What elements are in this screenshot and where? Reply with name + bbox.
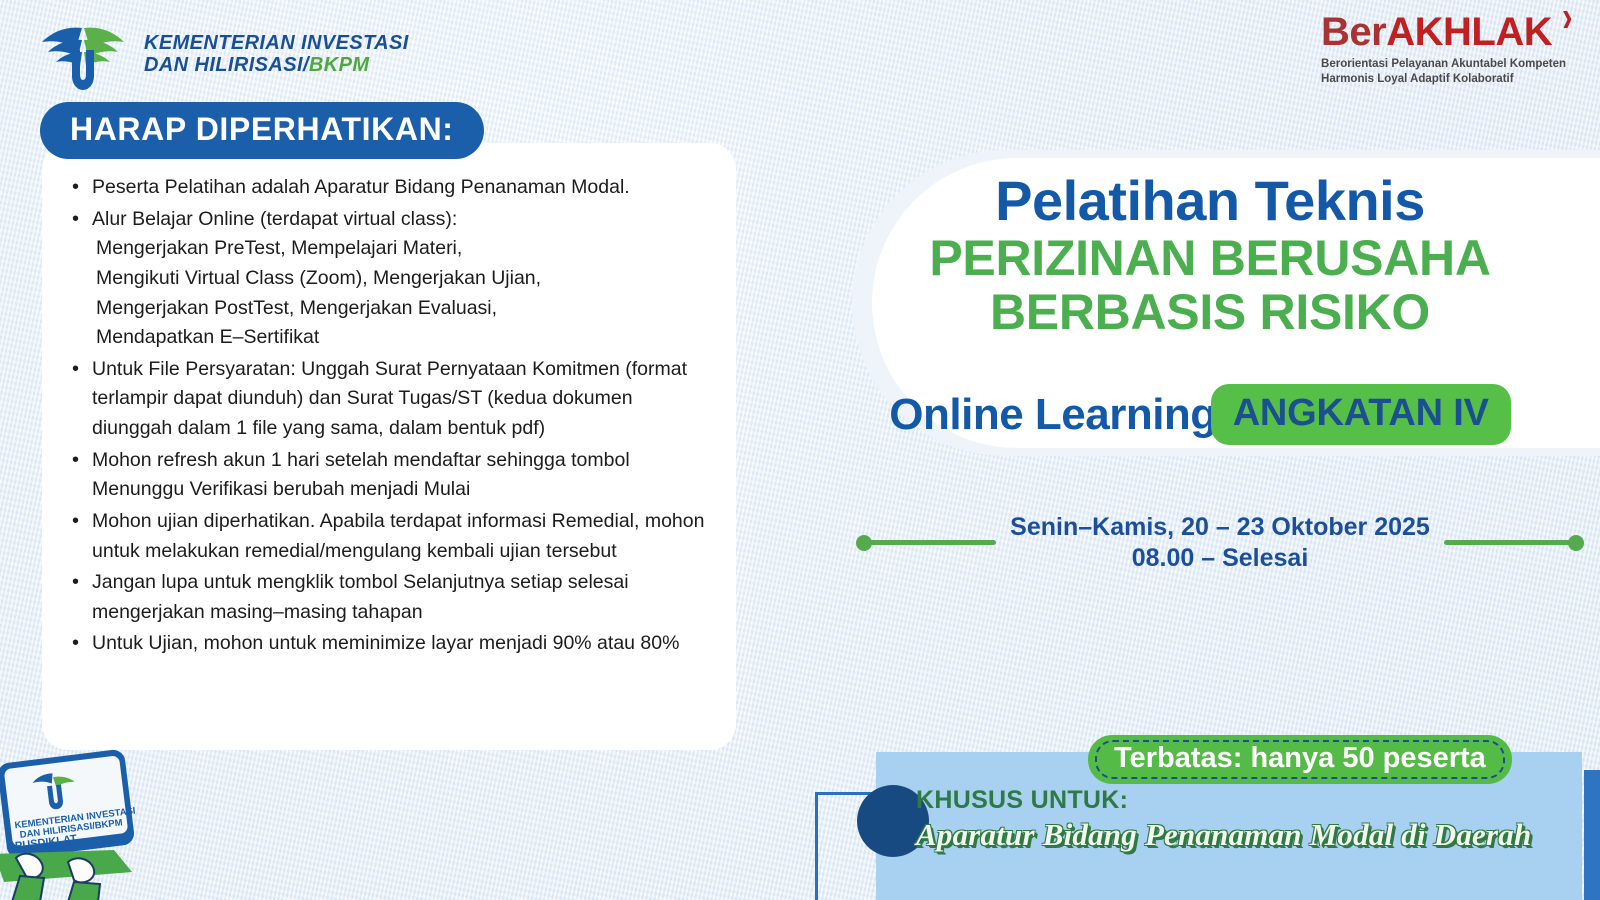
berakhlak-tagline-line2: Harmonis Loyal Adaptif Kolaboratif: [1321, 72, 1566, 87]
note-item: Mohon ujian diperhatikan. Apabila terdap…: [70, 507, 714, 566]
bkpm-acronym: BKPM: [309, 54, 370, 76]
notes-list: Peserta Pelatihan adalah Aparatur Bidang…: [42, 143, 736, 659]
schedule-dates: Senin–Kamis, 20 – 23 Oktober 2025: [1010, 512, 1430, 543]
learning-mode-label: Online Learning: [889, 390, 1216, 440]
note-item: Untuk Ujian, mohon untuk meminimize laya…: [70, 629, 714, 659]
quota-badge: Terbatas: hanya 50 peserta: [1088, 735, 1512, 784]
schedule-time: 08.00 – Selesai: [1010, 543, 1430, 574]
note-item: Peserta Pelatihan adalah Aparatur Bidang…: [70, 173, 714, 203]
schedule-divider-right-icon: [1444, 540, 1580, 545]
schedule-row: Senin–Kamis, 20 – 23 Oktober 2025 08.00 …: [860, 512, 1580, 573]
note-item: Alur Belajar Online (terdapat virtual cl…: [70, 205, 714, 353]
ministry-name-line2: DAN HILIRISASI/BKPM: [144, 54, 409, 76]
note-item: Jangan lupa untuk mengklik tombol Selanj…: [70, 568, 714, 627]
notes-heading-badge: HARAP DIPERHATIKAN:: [40, 102, 484, 159]
bkpm-frond-logo-icon: [38, 16, 130, 92]
hero-mode-row: Online Learning ANGKATAN IV: [820, 384, 1580, 445]
note-item-subline: Mengikuti Virtual Class (Zoom), Mengerja…: [92, 264, 714, 294]
berakhlak-tagline-line1: Berorientasi Pelayanan Akuntabel Kompete…: [1321, 57, 1566, 72]
note-item-text: Mohon ujian diperhatikan. Apabila terdap…: [92, 510, 704, 562]
ministry-logo-text: KEMENTERIAN INVESTASI DAN HILIRISASI/BKP…: [144, 32, 409, 77]
ministry-name-line1: KEMENTERIAN INVESTASI: [144, 32, 409, 54]
hands-typing-on-tablet-icon: KEMENTERIAN INVESTASI DAN HILIRISASI/BKP…: [0, 742, 194, 900]
hero-title-block: Pelatihan Teknis PERIZINAN BERUSAHA BERB…: [860, 172, 1560, 339]
audience-block: KHUSUS UNTUK: Aparatur Bidang Penanaman …: [916, 786, 1531, 853]
note-item-text: Untuk File Persyaratan: Unggah Surat Per…: [92, 358, 687, 439]
berakhlak-logo: BerAKHLAK› Berorientasi Pelayanan Akunta…: [1321, 10, 1566, 86]
note-item: Mohon refresh akun 1 hari setelah mendaf…: [70, 446, 714, 505]
schedule-text: Senin–Kamis, 20 – 23 Oktober 2025 08.00 …: [1010, 512, 1430, 573]
note-item: Untuk File Persyaratan: Unggah Surat Per…: [70, 355, 714, 444]
page-subtitle-line2: BERBASIS RISIKO: [860, 285, 1560, 339]
note-item-subline: Mendapatkan E–Sertifikat: [92, 323, 714, 353]
ministry-logo: KEMENTERIAN INVESTASI DAN HILIRISASI/BKP…: [38, 16, 409, 92]
note-item-subline: Mengerjakan PreTest, Mempelajari Materi,: [92, 234, 714, 264]
batch-badge: ANGKATAN IV: [1211, 384, 1511, 445]
audience-label: KHUSUS UNTUK:: [916, 786, 1531, 815]
berakhlak-tagline: Berorientasi Pelayanan Akuntabel Kompete…: [1321, 57, 1566, 86]
notes-card: Peserta Pelatihan adalah Aparatur Bidang…: [42, 143, 736, 750]
page-title: Pelatihan Teknis: [860, 172, 1560, 231]
note-item-text: Mohon refresh akun 1 hari setelah mendaf…: [92, 449, 630, 501]
note-item-text: Alur Belajar Online (terdapat virtual cl…: [92, 208, 457, 230]
audience-target: Aparatur Bidang Penanaman Modal di Daera…: [916, 817, 1531, 853]
page-subtitle-line1: PERIZINAN BERUSAHA: [860, 231, 1560, 285]
berakhlak-wordmark: BerAKHLAK›: [1321, 10, 1552, 55]
note-item-text: Untuk Ujian, mohon untuk meminimize laya…: [92, 632, 679, 654]
note-item-subline: Mengerjakan PostTest, Mengerjakan Evalua…: [92, 294, 714, 324]
schedule-divider-left-icon: [860, 540, 996, 545]
chevron-icon: ›: [1561, 0, 1572, 42]
footer-right-bar: [1584, 770, 1600, 900]
note-item-text: Jangan lupa untuk mengklik tombol Selanj…: [92, 571, 629, 623]
note-item-text: Peserta Pelatihan adalah Aparatur Bidang…: [92, 176, 630, 198]
